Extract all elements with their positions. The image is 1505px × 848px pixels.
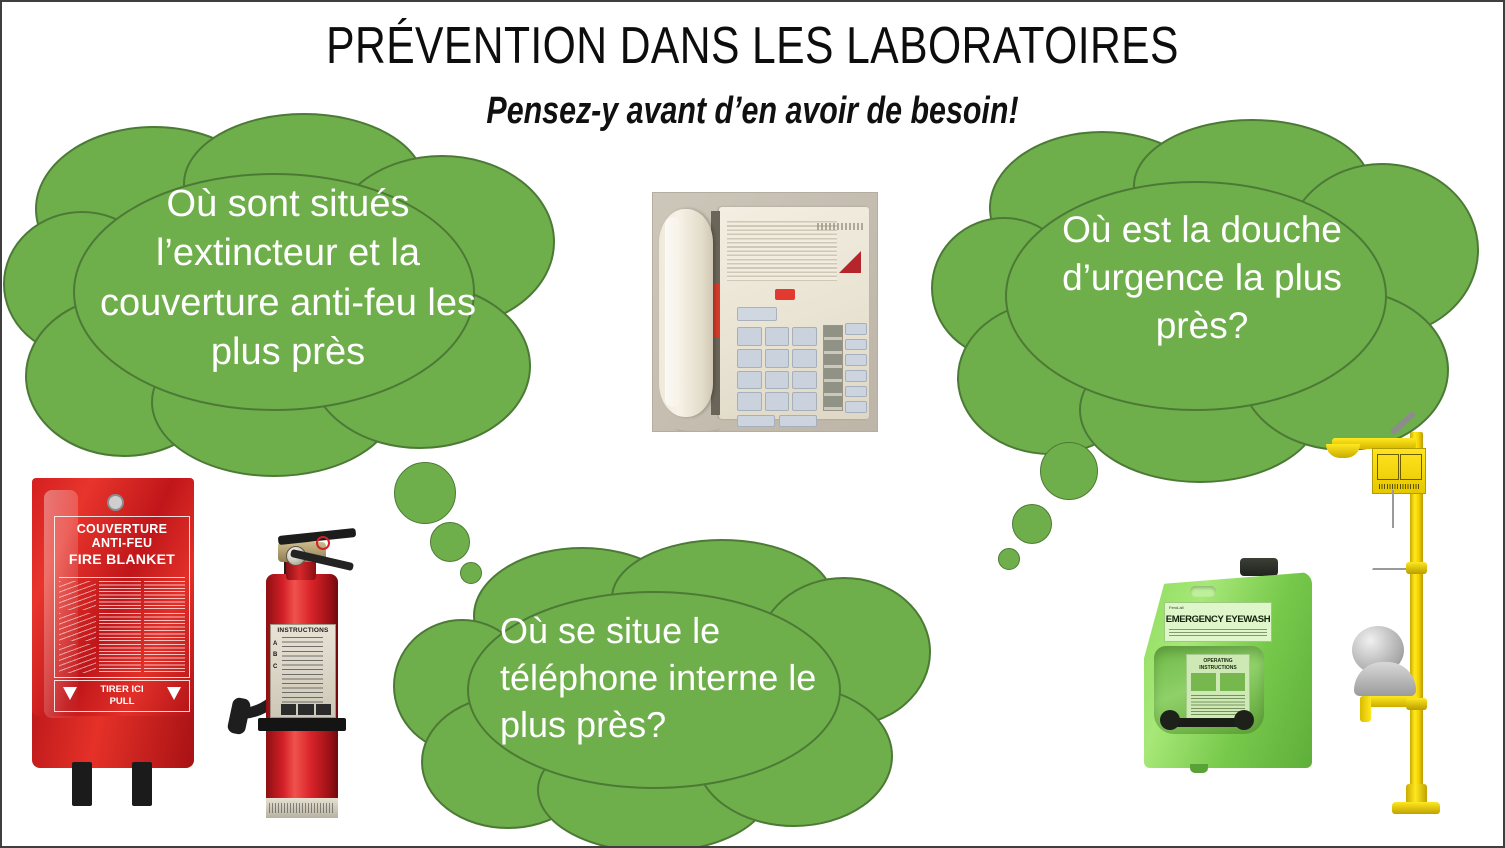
telephone-key[interactable] — [737, 371, 762, 390]
telephone-key[interactable] — [737, 349, 762, 368]
telephone-keypad[interactable] — [737, 327, 817, 411]
shower-sign-text — [1379, 484, 1419, 489]
eyewash-label-subtext — [1169, 629, 1267, 637]
fire-extinguisher-mounting-strap — [258, 718, 346, 731]
telephone-key[interactable] — [792, 349, 817, 368]
eyewash-fill-cap[interactable] — [1240, 558, 1278, 576]
telephone-side-key[interactable] — [845, 401, 867, 413]
thought-bubble-fire-shape — [4, 114, 572, 474]
telephone-side-key[interactable] — [845, 339, 867, 351]
eyewash-brand: Fend-all — [1169, 605, 1183, 610]
fire-blanket-strap — [72, 762, 92, 806]
fire-class-icon — [298, 704, 313, 715]
page-title: PRÉVENTION DANS LES LABORATOIRES — [137, 16, 1368, 76]
telephone-key[interactable] — [765, 349, 790, 368]
fire-extinguisher-label-text — [282, 637, 323, 703]
telephone-key[interactable] — [765, 392, 790, 411]
fire-class-icon — [316, 704, 331, 715]
shower-head — [1326, 444, 1360, 458]
shower-instruction-sign — [1372, 448, 1426, 494]
eyewash-nozzle[interactable] — [1234, 710, 1254, 730]
shower-pictogram-icon — [1377, 454, 1399, 480]
fire-extinguisher-class-markers: ABC — [273, 639, 277, 673]
telephone-key[interactable] — [737, 327, 762, 346]
telephone-side-key[interactable] — [845, 323, 867, 335]
fire-blanket-pictogram — [59, 613, 96, 642]
fire-extinguisher-label: INSTRUCTIONS ABC — [270, 624, 336, 718]
fire-extinguisher-label-title: INSTRUCTIONS — [271, 627, 335, 634]
telephone-key[interactable] — [792, 327, 817, 346]
eyewash-label-title: EMERGENCY EYEWASH — [1165, 614, 1271, 625]
telephone-photo — [652, 192, 878, 432]
thought-trail-dot — [1012, 504, 1052, 544]
thought-trail-dot — [1040, 442, 1098, 500]
eyewash-instructions-title: OPERATINGINSTRUCTIONS — [1187, 658, 1249, 671]
telephone-side-key[interactable] — [845, 370, 867, 382]
fire-blanket-instruction-grid — [59, 581, 185, 673]
telephone-key[interactable] — [765, 327, 790, 346]
thought-bubble-internal-phone: Où se situe le téléphone interne le plus… — [392, 540, 932, 840]
telephone-display-strip — [823, 325, 843, 411]
fire-blanket-pictogram — [59, 644, 96, 673]
fire-extinguisher-base-band — [266, 798, 338, 818]
shower-pull-rod[interactable] — [1392, 490, 1394, 528]
fire-blanket-strap — [132, 762, 152, 806]
thought-trail-dot — [998, 548, 1020, 570]
emergency-eyewash-photo: Fend-all EMERGENCY EYEWASH OPERATINGINST… — [1130, 550, 1330, 780]
emergency-safety-shower-photo — [1332, 414, 1492, 826]
shower-pipe-joint — [1406, 698, 1427, 710]
telephone-key[interactable] — [765, 371, 790, 390]
eyewash-nozzle[interactable] — [1160, 710, 1180, 730]
shower-pipe-joint — [1406, 562, 1427, 574]
eyewash-drain-foot — [1190, 764, 1208, 773]
fire-blanket-label-line1: COUVERTURE — [55, 522, 189, 537]
telephone-bottom-key[interactable] — [737, 415, 775, 427]
shower-eyewash-drop-pipe — [1360, 696, 1371, 722]
thought-bubble-phone-shape — [392, 540, 932, 840]
eyewash-carry-handle[interactable] — [1190, 586, 1216, 597]
telephone-key[interactable] — [792, 371, 817, 390]
fire-blanket-instruction-text — [99, 644, 140, 673]
fire-blanket-photo: COUVERTURE ANTI-FEU FIRE BLANKET — [24, 470, 202, 790]
thought-trail-dot — [394, 462, 456, 524]
fire-blanket-pull-strip: TIRER ICI PULL — [54, 680, 190, 712]
telephone-bottom-buttons[interactable] — [737, 415, 817, 427]
fire-blanket-instruction-text — [144, 581, 185, 610]
fire-blanket-pull-line2: PULL — [55, 696, 189, 708]
telephone-handset[interactable] — [659, 209, 713, 417]
fire-extinguisher-safety-pin[interactable] — [316, 536, 330, 550]
shower-floor-flange — [1392, 802, 1440, 814]
fire-blanket-instruction-text — [144, 644, 185, 673]
telephone-bottom-key[interactable] — [779, 415, 817, 427]
telephone-side-buttons[interactable] — [845, 323, 867, 413]
fire-blanket-label-line3: FIRE BLANKET — [55, 551, 189, 568]
thought-bubble-fire-equipment: Où sont situés l’extincteur et la couver… — [4, 114, 572, 474]
eyewash-pictogram-icon — [1400, 454, 1422, 480]
fire-blanket-instruction-text — [99, 613, 140, 642]
fire-extinguisher-photo: INSTRUCTIONS ABC — [224, 530, 374, 822]
slide-canvas: PRÉVENTION DANS LES LABORATOIRES Pensez-… — [0, 0, 1505, 848]
fire-blanket-pictogram — [59, 581, 96, 610]
telephone-cord — [675, 419, 721, 432]
fire-extinguisher-nozzle — [226, 697, 251, 736]
telephone-key[interactable] — [737, 392, 762, 411]
fire-blanket-pull-line1: TIRER ICI — [55, 684, 189, 696]
fire-blanket-label: COUVERTURE ANTI-FEU FIRE BLANKET — [54, 516, 190, 678]
fire-blanket-instruction-text — [99, 581, 140, 610]
telephone-key[interactable] — [792, 392, 817, 411]
fire-blanket-grommet — [107, 494, 124, 511]
telephone-base — [719, 207, 869, 419]
telephone-speaker-grille — [727, 221, 837, 281]
fire-extinguisher-pictogram-row — [281, 704, 331, 715]
telephone-indicator-triangle-icon — [839, 251, 861, 273]
eyewash-instruction-diagram — [1191, 673, 1245, 691]
fire-blanket-label-line2: ANTI-FEU — [55, 536, 189, 551]
telephone-side-key[interactable] — [845, 354, 867, 366]
fire-blanket-label-divider — [59, 577, 185, 578]
fire-blanket-pouch: COUVERTURE ANTI-FEU FIRE BLANKET — [32, 478, 194, 716]
telephone-feature-button[interactable] — [737, 307, 777, 321]
telephone-side-key[interactable] — [845, 386, 867, 398]
telephone-release-button[interactable] — [775, 289, 795, 300]
fire-class-icon — [281, 704, 296, 715]
fire-blanket-instruction-text — [144, 613, 185, 642]
telephone-brand-mark — [817, 223, 863, 230]
eyewash-name-plate: Fend-all EMERGENCY EYEWASH — [1164, 602, 1272, 642]
